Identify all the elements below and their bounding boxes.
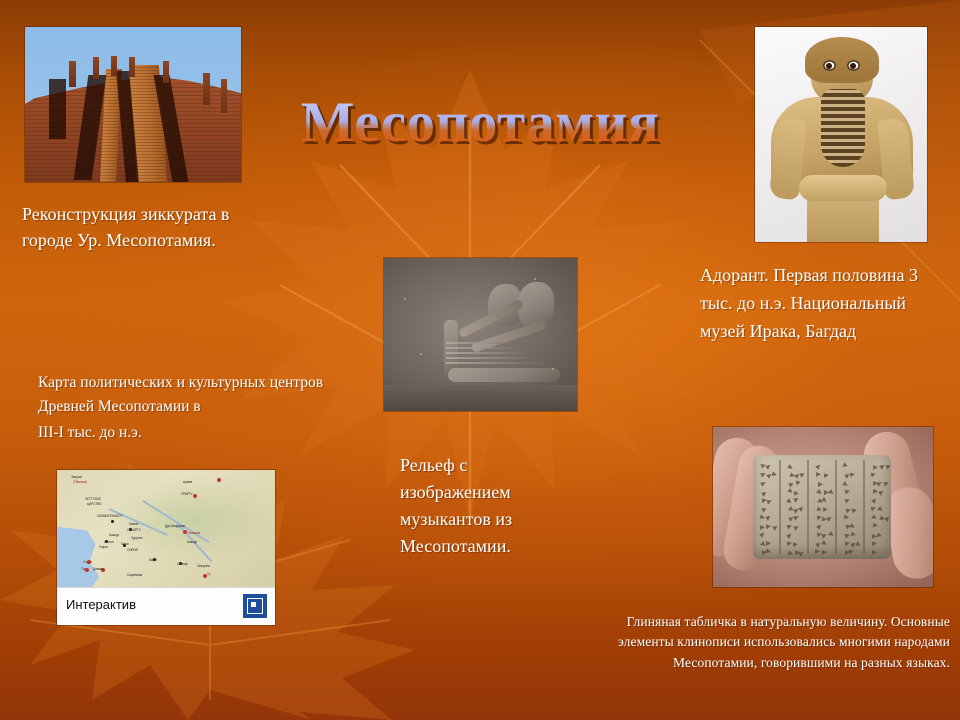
cuneiform-wedge: [793, 507, 800, 514]
map-label: УРАРТУ: [181, 492, 192, 496]
tablet-column-rule: [863, 460, 865, 554]
map-label: Дур-Шаррукин: [165, 524, 185, 528]
ziggurat-pier-6: [203, 73, 210, 105]
cuneiform-wedge: [824, 490, 829, 495]
cuneiform-wedge: [760, 462, 767, 469]
cuneiform-wedge: [871, 472, 877, 478]
map-label: Ашшур: [187, 540, 197, 544]
cuneiform-wedge: [794, 472, 801, 479]
ziggurat-pier-5: [163, 61, 169, 83]
statue-torso: [807, 195, 879, 242]
map-label: Загурса: [71, 475, 82, 479]
ziggurat-pier-4: [129, 57, 135, 77]
cuneiform-wedge: [877, 506, 884, 513]
cuneiform-wedge: [844, 472, 851, 479]
cuneiform-wedge: [821, 497, 828, 504]
ziggurat-pier-2: [93, 57, 99, 79]
map-label: СУБАРТУ: [127, 528, 141, 532]
map-label: Угарит: [99, 545, 108, 549]
cuneiform-wedge: [815, 541, 822, 548]
cuneiform-wedge: [879, 463, 886, 470]
cuneiform-wedge: [871, 497, 878, 504]
relief-harp-string-1: [446, 342, 522, 344]
relief-speck: [534, 278, 536, 280]
cuneiform-wedge: [817, 514, 823, 520]
cuneiform-wedge: [815, 549, 820, 554]
cuneiform-wedge: [759, 514, 766, 521]
map-label: Армия: [183, 480, 192, 484]
cuneiform-wedge: [761, 506, 768, 513]
map-photo[interactable]: Загурса(Тбилиси)ХЕТТСКОЕЦАРСТВОКОММАГЕНЬ…: [57, 470, 275, 625]
cuneiform-wedge: [872, 550, 877, 555]
map-label: ХЕТТСКОЕ: [85, 497, 101, 501]
cuneiform-wedge: [845, 532, 851, 538]
cuneiform-wedge: [786, 532, 793, 539]
cuneiform-wedge: [822, 550, 827, 555]
map-label: Эшнунна: [197, 564, 210, 568]
map-bottom-bar: Интерактив: [57, 587, 275, 625]
cuneiform-wedge: [821, 532, 828, 539]
cuneiform-wedge: [871, 514, 878, 521]
map-label: СИРИЯ: [127, 548, 138, 552]
cuneiform-wedge: [818, 482, 823, 487]
cuneiform-wedge: [793, 497, 800, 504]
cuneiform-wedge: [761, 490, 768, 497]
presentation-slide: Месопотамия Реконструкция зиккурата в го…: [0, 0, 960, 720]
cuneiform-tablet: [753, 455, 891, 559]
cuneiform-wedge: [845, 507, 851, 513]
cuneiform-wedge: [884, 480, 891, 487]
caption-map-line-1: Карта политических и культурных: [38, 374, 266, 391]
cuneiform-wedge: [876, 480, 883, 487]
cuneiform-wedge: [787, 541, 793, 547]
cuneiform-wedge: [798, 550, 805, 557]
relief-base-band: [384, 385, 577, 411]
caption-clay-tablet: Глиняная табличка в натуральную величину…: [575, 612, 950, 673]
cuneiform-wedge: [849, 523, 856, 530]
cuneiform-wedge: [794, 514, 800, 520]
adorant-statue-photo: [755, 27, 927, 242]
relief-hands: [448, 368, 560, 382]
map-label: Сиппар: [177, 562, 187, 566]
map-label: Ур: [207, 572, 210, 576]
cuneiform-wedge: [816, 523, 823, 530]
caption-map-line-3: III-I тыс. до н.э.: [38, 421, 338, 445]
cuneiform-wedge: [759, 531, 766, 538]
cuneiform-wedge: [871, 540, 877, 546]
ziggurat-niche-shadow-1: [49, 79, 66, 139]
statue-pupil-left: [826, 63, 832, 69]
caption-map: Карта политических и культурных центров …: [38, 371, 338, 445]
map-label: Ниневия: [188, 531, 200, 535]
map-label: Хуррито: [131, 536, 142, 540]
cuneiform-wedge: [842, 462, 848, 468]
map-label: Сидон: [83, 560, 92, 564]
map-label: КОММАГЕНЬБОТ: [97, 514, 122, 518]
cuneiform-wedge: [799, 471, 806, 478]
cuneiform-wedge: [766, 541, 771, 546]
cuneiform-wedge: [772, 471, 778, 477]
cuneiform-wedge: [765, 549, 772, 556]
ziggurat-pier-7: [221, 79, 227, 113]
cuneiform-wedge: [871, 506, 877, 512]
cuneiform-wedge: [760, 525, 765, 530]
map-label: (Тбилиси): [73, 480, 87, 484]
cuneiform-wedge: [766, 498, 772, 504]
map-city-marker: [183, 530, 187, 534]
clay-tablet-photo: [713, 427, 933, 587]
caption-adorant: Адорант. Первая половина 3 тыс. до н.э. …: [700, 262, 950, 346]
map-interactive-label: Интерактив: [66, 597, 136, 612]
relief-speck: [552, 368, 554, 370]
cuneiform-wedge: [765, 524, 771, 530]
map-canvas: Загурса(Тбилиси)ХЕТТСКОЕЦАРСТВОКОММАГЕНЬ…: [57, 470, 275, 588]
cuneiform-wedge: [850, 472, 856, 478]
map-label: Мари: [121, 542, 129, 546]
cuneiform-wedge: [816, 531, 822, 537]
cuneiform-wedge: [850, 541, 857, 548]
cuneiform-wedge: [787, 550, 793, 556]
interactive-launch-icon[interactable]: [243, 594, 267, 618]
cuneiform-wedge: [844, 489, 850, 495]
cuneiform-wedge: [852, 507, 858, 513]
cuneiform-wedge: [843, 514, 849, 520]
cuneiform-wedge: [816, 489, 823, 496]
cuneiform-wedge: [823, 507, 828, 512]
statue-hair: [805, 37, 879, 83]
ziggurat-pier-3: [111, 56, 117, 76]
cuneiform-wedge: [884, 515, 891, 522]
cuneiform-wedge: [872, 523, 878, 529]
map-label: Сирийская: [127, 573, 142, 577]
cuneiform-wedge: [821, 540, 828, 547]
map-label: ЦАРСТВО: [87, 502, 102, 506]
cuneiform-wedge: [760, 472, 766, 478]
cuneiform-wedge: [786, 523, 793, 530]
cuneiform-wedge: [816, 472, 821, 477]
map-city-marker: [217, 478, 221, 482]
cuneiform-wedge: [816, 506, 823, 513]
map-dot: [111, 520, 114, 523]
statue-beard: [821, 89, 865, 167]
map-label: Чаюне: [129, 522, 138, 526]
relief-harp-string-2: [446, 347, 528, 349]
relief-harp-string-3: [446, 352, 534, 354]
map-label: Апогон: [104, 540, 114, 544]
cuneiform-wedge: [793, 524, 800, 531]
cuneiform-wedge: [844, 541, 850, 547]
relief-speck: [420, 353, 422, 355]
map-city-marker: [193, 494, 197, 498]
cuneiform-wedge: [793, 542, 798, 547]
caption-relief: Рельеф с изображением музыкантов из Месо…: [400, 452, 575, 560]
cuneiform-wedge: [842, 481, 849, 488]
tablet-column-rule: [779, 460, 781, 554]
cuneiform-wedge: [877, 532, 883, 538]
tablet-column-rule: [807, 460, 809, 554]
cuneiform-wedge: [823, 472, 829, 478]
cuneiform-wedge: [795, 480, 801, 486]
cuneiform-wedge: [872, 489, 878, 495]
cuneiform-wedge: [850, 531, 856, 537]
map-label: Мари: [149, 558, 157, 562]
caption-ziggurat: Реконструкция зиккурата в городе Ур. Мес…: [22, 202, 272, 253]
cuneiform-wedge: [885, 463, 891, 470]
map-label: Дамаск: [93, 567, 103, 571]
map-label: Тир: [81, 567, 86, 571]
relief-musicians-photo: [384, 258, 577, 411]
cuneiform-wedge: [872, 533, 878, 539]
cuneiform-wedge: [794, 490, 800, 496]
cuneiform-wedge: [762, 497, 768, 503]
cuneiform-wedge: [786, 498, 793, 505]
relief-speck: [404, 298, 406, 300]
cuneiform-wedge: [765, 514, 772, 521]
cuneiform-wedge: [873, 465, 878, 470]
relief-head-2: [518, 282, 554, 326]
cuneiform-wedge: [815, 463, 822, 470]
statue-clasped-hands: [799, 175, 887, 201]
statue-pupil-right: [850, 63, 856, 69]
relief-harp-string-5: [446, 362, 546, 364]
ziggurat-photo: [25, 27, 241, 182]
cuneiform-wedge: [849, 549, 855, 555]
cuneiform-wedge: [787, 488, 794, 495]
cuneiform-wedge: [878, 489, 885, 496]
cuneiform-wedge: [765, 463, 772, 470]
cuneiform-wedge: [760, 480, 767, 487]
cuneiform-wedge: [844, 498, 851, 505]
map-label: Ашшур: [109, 533, 119, 537]
relief-harp-string-4: [446, 357, 540, 359]
cuneiform-wedge: [855, 541, 862, 548]
cuneiform-wedge: [827, 515, 834, 522]
cuneiform-wedge: [788, 481, 794, 487]
cuneiform-wedge: [787, 464, 794, 471]
tablet-column-rule: [835, 460, 837, 554]
cuneiform-wedge: [798, 505, 805, 512]
ziggurat-pier-1: [69, 61, 76, 87]
